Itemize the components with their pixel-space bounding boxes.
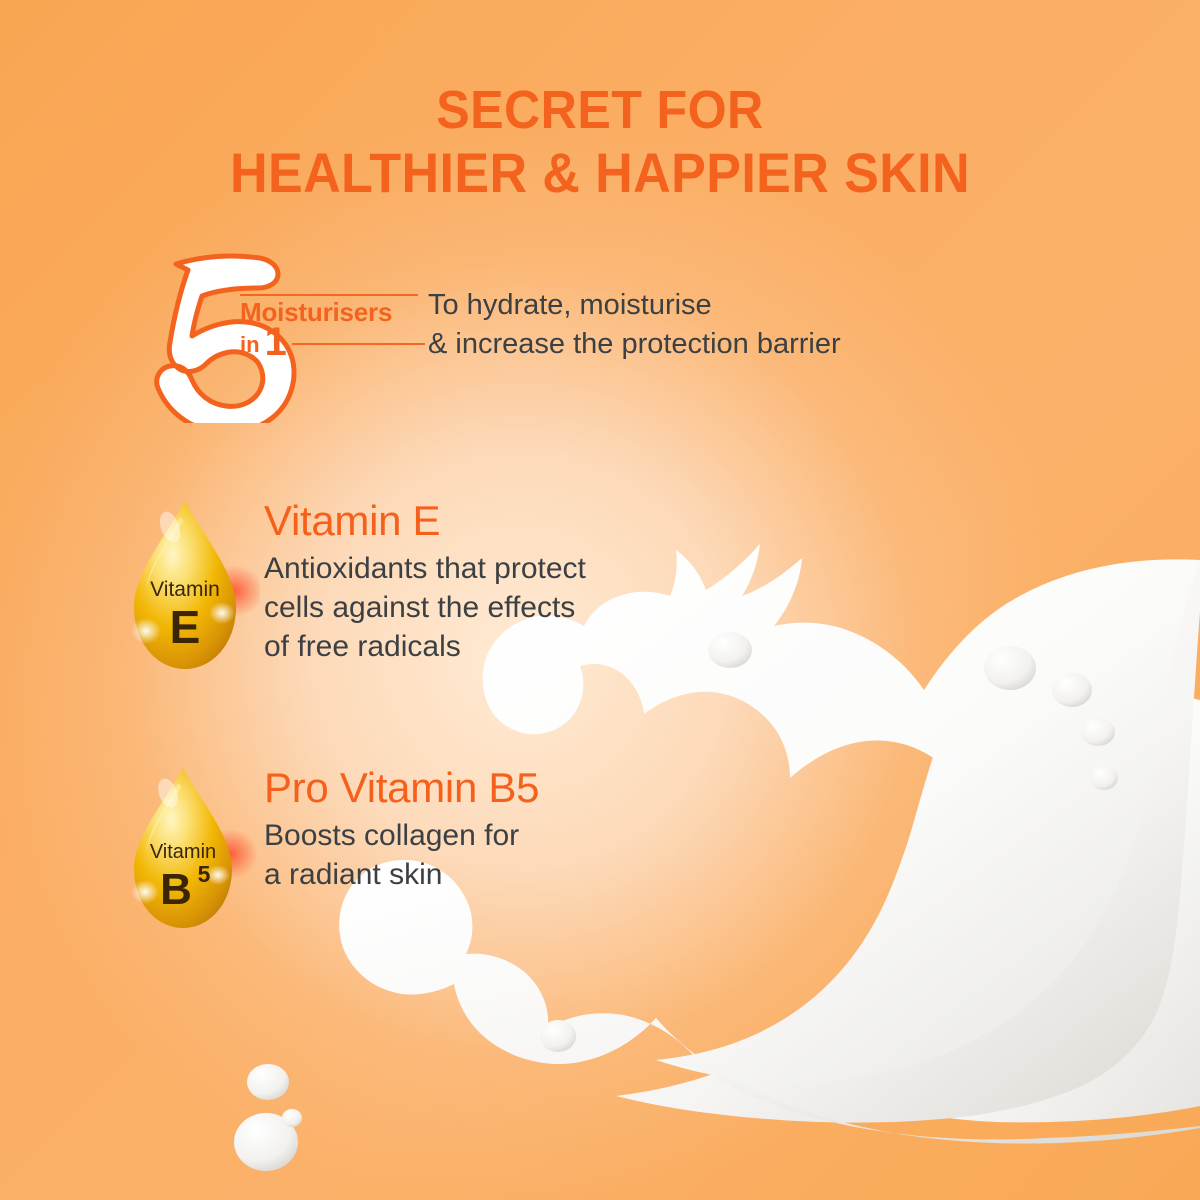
caption-rule-top (240, 294, 418, 296)
one-label: 1 (265, 326, 287, 359)
vitamin-b5-description: Boosts collagen for a radiant skin (264, 816, 539, 894)
milk-droplet (247, 1064, 289, 1100)
five-in-one-caption: Moisturisers in 1 (240, 294, 425, 359)
vitamin-e-droplet-icon: Vitamin E (110, 495, 260, 685)
vitamin-e-body: Vitamin E Antioxidants that protect cell… (264, 495, 586, 666)
vitamin-e-description: Antioxidants that protect cells against … (264, 549, 586, 666)
feature-five-in-one: Moisturisers in 1 To hydrate, moisturise… (128, 252, 1088, 422)
title-line-2: HEALTHIER & HAPPIER SKIN (42, 141, 1158, 204)
vite-desc-line-2: cells against the effects (264, 588, 586, 627)
feature-pro-vitamin-b5: Vitamin B 5 Pro Vitamin B5 Boosts collag… (110, 762, 1110, 937)
five-desc-line-2: & increase the protection barrier (428, 325, 841, 364)
vite-desc-line-3: of free radicals (264, 627, 586, 666)
caption-rule-bottom (292, 343, 425, 345)
svg-text:Vitamin: Vitamin (150, 841, 216, 863)
svg-text:5: 5 (198, 861, 211, 887)
five-in-one-description: To hydrate, moisturise & increase the pr… (428, 252, 841, 363)
milk-droplet (540, 1020, 576, 1052)
vitamin-b5-title: Pro Vitamin B5 (264, 766, 539, 810)
vitamin-e-title: Vitamin E (264, 499, 586, 543)
vitamin-b5-droplet-icon: Vitamin B 5 (110, 762, 260, 937)
svg-text:Vitamin: Vitamin (150, 578, 220, 601)
five-in-one-badge: Moisturisers in 1 (128, 252, 428, 422)
title-line-1: SECRET FOR (42, 80, 1158, 141)
in-label: in (240, 334, 260, 359)
milk-droplet (282, 1109, 302, 1127)
svg-text:B: B (160, 865, 192, 914)
vitamin-b5-body: Pro Vitamin B5 Boosts collagen for a rad… (264, 762, 539, 894)
svg-text:E: E (170, 601, 201, 653)
infographic-poster: SECRET FOR HEALTHIER & HAPPIER SKIN Mois… (0, 0, 1200, 1200)
five-desc-line-1: To hydrate, moisturise (428, 286, 841, 325)
page-title: SECRET FOR HEALTHIER & HAPPIER SKIN (42, 80, 1158, 204)
milk-droplet (234, 1113, 298, 1171)
vite-desc-line-1: Antioxidants that protect (264, 549, 586, 588)
vitb5-desc-line-2: a radiant skin (264, 855, 539, 894)
vitb5-desc-line-1: Boosts collagen for (264, 816, 539, 855)
feature-vitamin-e: Vitamin E Vitamin E Antioxidants that pr… (110, 495, 1110, 685)
